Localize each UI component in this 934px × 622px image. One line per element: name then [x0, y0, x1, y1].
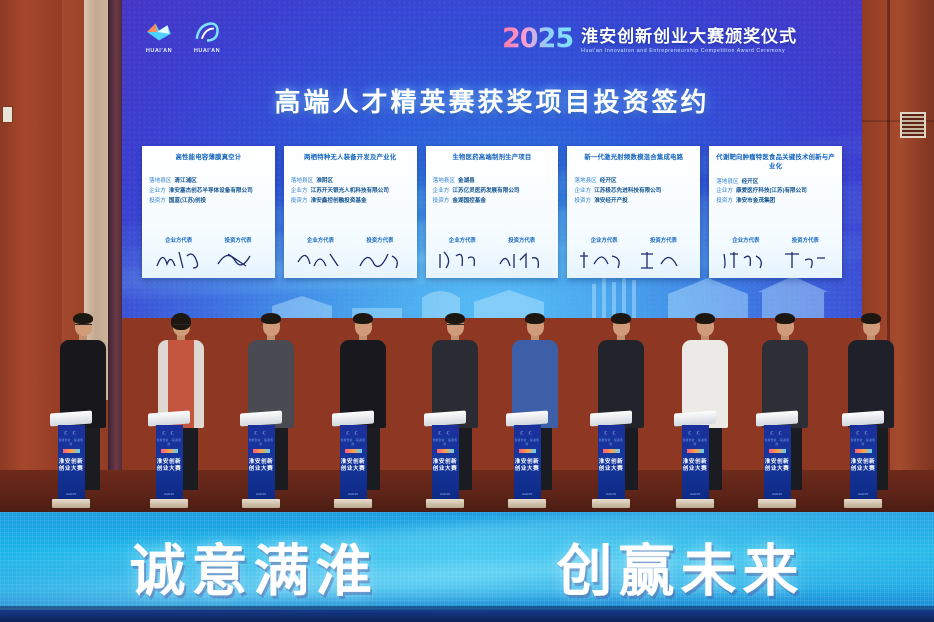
bird-logo-icon	[142, 18, 176, 46]
row-key: 投资方	[149, 197, 166, 205]
project-row-company: 企业方 江苏亿灵医药发展有限公司	[433, 187, 552, 195]
signature-label-company: 企业方代表	[307, 236, 334, 244]
podium-main-label: 淮安创新创业大赛	[248, 459, 275, 473]
podium-sub-label: 创新创业 · 投资签约	[764, 438, 791, 446]
podium-sub-label: 创新创业 · 投资签约	[598, 438, 625, 446]
event-year: 2025	[502, 25, 573, 52]
podium-base	[676, 499, 714, 508]
signature-label-investor: 投资方代表	[650, 236, 677, 244]
podium-foot-label: HUAI'AN	[432, 493, 459, 496]
hair	[353, 313, 373, 324]
row-value: 清江浦区	[174, 177, 196, 185]
row-key: 投资方	[291, 197, 308, 205]
main-title: 高端人才精英赛获奖项目投资签约	[122, 82, 862, 119]
podium-sub-label: 创新创业 · 投资签约	[156, 438, 183, 446]
row-key: 企业方	[574, 187, 591, 195]
hair	[861, 313, 881, 324]
glasses-icon	[75, 324, 92, 328]
signature-label-investor: 投资方代表	[508, 236, 535, 244]
podium-foot-label: HUAI'AN	[764, 493, 791, 496]
participant-head	[263, 316, 280, 336]
podium-main-label: 淮安创新创业大赛	[598, 459, 625, 473]
podium-foot-label: HUAI'AN	[248, 493, 275, 496]
glasses-icon	[173, 324, 190, 328]
script-logo-icon	[190, 18, 224, 46]
project-row-company: 企业方 淮安塞杰创芯半导体设备有限公司	[149, 187, 268, 195]
glasses-icon	[447, 324, 464, 328]
podium-base	[150, 499, 188, 508]
row-value: 金湖国控基金	[452, 197, 486, 205]
podium: 汇 汇 创新创业 · 投资签约 淮安创新创业大赛 HUAI'AN	[50, 412, 92, 508]
handwritten-signature	[637, 246, 689, 272]
row-value: 江苏开天银光人机科技有限公司	[311, 187, 389, 195]
podium-top-label: 汇 汇	[514, 430, 541, 435]
project-detail-rows: 落地县区 经开区 企业方 江苏极芯先进科技有限公司 投资方 淮安经开产投	[574, 177, 693, 207]
signature-labels: 企业方代表 投资方代表	[433, 236, 552, 244]
podium-sub-label: 创新创业 · 投资签约	[514, 438, 541, 446]
participant-head	[613, 316, 630, 336]
row-key: 企业方	[716, 187, 733, 195]
project-row-investor: 投资方 国蓝(江苏)创投	[149, 197, 268, 205]
row-value: 经开区	[742, 178, 759, 186]
podium-signage: 汇 汇 创新创业 · 投资签约 淮安创新创业大赛 HUAI'AN	[432, 425, 459, 499]
podium-base	[592, 499, 630, 508]
signature-area	[433, 244, 552, 274]
signature-labels: 企业方代表 投资方代表	[149, 236, 268, 244]
row-key: 投资方	[433, 197, 450, 205]
row-key: 落地县区	[433, 177, 455, 185]
podium-top-label: 汇 汇	[248, 430, 275, 435]
bottom-led-banner: 诚意满淮 创赢未来	[0, 512, 934, 622]
project-row-company: 企业方 康爱医疗科技(江苏)有限公司	[716, 187, 835, 195]
participant-head	[447, 316, 464, 336]
project-card-list: 高性能电容薄膜真空计 落地县区 清江浦区 企业方 淮安塞杰创芯半导体设备有限公司…	[142, 146, 842, 278]
participant-head	[863, 316, 880, 336]
air-vent-grille	[900, 112, 926, 138]
led-bottom-strip	[0, 610, 934, 622]
podium-color-chip	[345, 449, 362, 453]
signature-label-investor: 投资方代表	[792, 236, 819, 244]
huaian-script-logo: HUAI'AN	[190, 18, 224, 54]
podium-top-label: 汇 汇	[340, 430, 367, 435]
podium-signage: 汇 汇 创新创业 · 投资签约 淮安创新创业大赛 HUAI'AN	[58, 425, 85, 499]
row-value: 国蓝(江苏)创投	[169, 197, 206, 205]
row-value: 淮安市金茂集团	[736, 197, 775, 205]
row-key: 落地县区	[574, 177, 596, 185]
project-title: 生物医药高端制剂生产项目	[433, 153, 552, 171]
row-key: 落地县区	[716, 178, 738, 186]
handwritten-signature	[354, 246, 406, 272]
signature-label-company: 企业方代表	[165, 236, 192, 244]
podium: 汇 汇 创新创业 · 投资签约 淮安创新创业大赛 HUAI'AN	[590, 412, 632, 508]
podium-sub-label: 创新创业 · 投资签约	[432, 438, 459, 446]
project-title: 高性能电容薄膜真空计	[149, 153, 268, 171]
podium-signage: 汇 汇 创新创业 · 投资签约 淮安创新创业大赛 HUAI'AN	[248, 425, 275, 499]
project-row-investor: 投资方 淮安鑫控创融投资基金	[291, 197, 410, 205]
project-title: 代谢靶向肿瘤特医食品关键技术创新与产业化	[716, 153, 835, 172]
project-detail-rows: 落地县区 金湖县 企业方 江苏亿灵医药发展有限公司 投资方 金湖国控基金	[433, 177, 552, 207]
podium-main-label: 淮安创新创业大赛	[432, 459, 459, 473]
podium-sub-label: 创新创业 · 投资签约	[682, 438, 709, 446]
row-value: 江苏极芯先进科技有限公司	[594, 187, 661, 195]
signature-labels: 企业方代表 投资方代表	[291, 236, 410, 244]
row-key: 企业方	[433, 187, 450, 195]
podium-foot-label: HUAI'AN	[682, 493, 709, 496]
signature-label-investor: 投资方代表	[366, 236, 393, 244]
project-detail-rows: 落地县区 淮阴区 企业方 江苏开天银光人机科技有限公司 投资方 淮安鑫控创融投资…	[291, 177, 410, 207]
podium-color-chip	[437, 449, 454, 453]
podium-main-label: 淮安创新创业大赛	[58, 459, 85, 473]
project-row-region: 落地县区 经开区	[716, 178, 835, 186]
huaian-script-logo-caption: HUAI'AN	[194, 48, 220, 54]
podium: 汇 汇 创新创业 · 投资签约 淮安创新创业大赛 HUAI'AN	[756, 412, 798, 508]
signature-area	[291, 244, 410, 274]
project-row-company: 企业方 江苏开天银光人机科技有限公司	[291, 187, 410, 195]
podium-base	[758, 499, 796, 508]
podium-color-chip	[769, 449, 786, 453]
project-title: 新一代激光射频数模混合集成电路	[574, 153, 693, 171]
hair	[445, 313, 465, 324]
hair	[525, 313, 545, 324]
podium-top-label: 汇 汇	[156, 430, 183, 435]
podium-signage: 汇 汇 创新创业 · 投资签约 淮安创新创业大赛 HUAI'AN	[340, 425, 367, 499]
podium: 汇 汇 创新创业 · 投资签约 淮安创新创业大赛 HUAI'AN	[332, 412, 374, 508]
signature-labels: 企业方代表 投资方代表	[574, 236, 693, 244]
event-banner: 2025 淮安创新创业大赛颁奖仪式 Huai'an Innovation and…	[502, 22, 797, 54]
podium: 汇 汇 创新创业 · 投资签约 淮安创新创业大赛 HUAI'AN	[506, 412, 548, 508]
hair	[611, 313, 631, 324]
participants-row: 汇 汇 创新创业 · 投资签约 淮安创新创业大赛 HUAI'AN 汇 汇 创新创…	[0, 300, 934, 490]
podium-color-chip	[687, 449, 704, 453]
hair	[695, 313, 715, 324]
podium: 汇 汇 创新创业 · 投资签约 淮安创新创业大赛 HUAI'AN	[674, 412, 716, 508]
podium-main-label: 淮安创新创业大赛	[850, 459, 877, 473]
podium-foot-label: HUAI'AN	[514, 493, 541, 496]
signature-area	[574, 244, 693, 274]
podium-main-label: 淮安创新创业大赛	[764, 459, 791, 473]
row-key: 投资方	[574, 197, 591, 205]
handwritten-signature	[212, 246, 264, 272]
signature-label-company: 企业方代表	[732, 236, 759, 244]
project-title: 两栖特种无人装备开发及产业化	[291, 153, 410, 171]
podium-sub-label: 创新创业 · 投资签约	[850, 438, 877, 446]
row-key: 企业方	[149, 187, 166, 195]
podium-top-label: 汇 汇	[58, 430, 85, 435]
podium: 汇 汇 创新创业 · 投资签约 淮安创新创业大赛 HUAI'AN	[148, 412, 190, 508]
podium-color-chip	[161, 449, 178, 453]
podium-base	[52, 499, 90, 508]
podium-sub-label: 创新创业 · 投资签约	[248, 438, 275, 446]
signature-label-company: 企业方代表	[591, 236, 618, 244]
huaian-bird-logo-caption: HUAI'AN	[146, 48, 172, 54]
project-row-investor: 投资方 金湖国控基金	[433, 197, 552, 205]
podium-top-label: 汇 汇	[764, 430, 791, 435]
participant-head	[355, 316, 372, 336]
podium-signage: 汇 汇 创新创业 · 投资签约 淮安创新创业大赛 HUAI'AN	[156, 425, 183, 499]
project-row-region: 落地县区 经开区	[574, 177, 693, 185]
handwritten-signature	[720, 246, 772, 272]
row-value: 淮安塞杰创芯半导体设备有限公司	[169, 187, 253, 195]
project-card: 新一代激光射频数模混合集成电路 落地县区 经开区 企业方 江苏极芯先进科技有限公…	[567, 146, 700, 278]
handwritten-signature	[496, 246, 548, 272]
podium-signage: 汇 汇 创新创业 · 投资签约 淮安创新创业大赛 HUAI'AN	[850, 425, 877, 499]
podium-sub-label: 创新创业 · 投资签约	[58, 438, 85, 446]
event-title-en: Huai'an Innovation and Entrepreneurship …	[581, 48, 797, 54]
podium-color-chip	[63, 449, 80, 453]
row-key: 落地县区	[291, 177, 313, 185]
podium-top-label: 汇 汇	[850, 430, 877, 435]
podium-color-chip	[603, 449, 620, 453]
row-value: 淮安鑫控创融投资基金	[311, 197, 367, 205]
podium-main-label: 淮安创新创业大赛	[682, 459, 709, 473]
project-row-region: 落地县区 金湖县	[433, 177, 552, 185]
row-key: 落地县区	[149, 177, 171, 185]
row-key: 投资方	[716, 197, 733, 205]
podium: 汇 汇 创新创业 · 投资签约 淮安创新创业大赛 HUAI'AN	[240, 412, 282, 508]
project-card: 代谢靶向肿瘤特医食品关键技术创新与产业化 落地县区 经开区 企业方 康爱医疗科技…	[709, 146, 842, 278]
huaian-bird-logo: HUAI'AN	[142, 18, 176, 54]
row-value: 金湖县	[458, 177, 475, 185]
screen-logo-group: HUAI'AN HUAI'AN	[142, 18, 224, 54]
podium-signage: 汇 汇 创新创业 · 投资签约 淮安创新创业大赛 HUAI'AN	[764, 425, 791, 499]
participant-head	[75, 316, 92, 336]
podium-top-label: 汇 汇	[598, 430, 625, 435]
podium-top-label: 汇 汇	[682, 430, 709, 435]
podium: 汇 汇 创新创业 · 投资签约 淮安创新创业大赛 HUAI'AN	[424, 412, 466, 508]
podium: 汇 汇 创新创业 · 投资签约 淮安创新创业大赛 HUAI'AN	[842, 412, 884, 508]
podium-foot-label: HUAI'AN	[598, 493, 625, 496]
hair	[261, 313, 281, 324]
handwritten-signature	[779, 246, 831, 272]
participant-head	[173, 316, 190, 336]
signature-labels: 企业方代表 投资方代表	[716, 236, 835, 244]
row-key: 企业方	[291, 187, 308, 195]
project-detail-rows: 落地县区 经开区 企业方 康爱医疗科技(江苏)有限公司 投资方 淮安市金茂集团	[716, 178, 835, 208]
podium-foot-label: HUAI'AN	[850, 493, 877, 496]
project-row-investor: 投资方 淮安市金茂集团	[716, 197, 835, 205]
podium-main-label: 淮安创新创业大赛	[156, 459, 183, 473]
signature-label-investor: 投资方代表	[225, 236, 252, 244]
project-card: 生物医药高端制剂生产项目 落地县区 金湖县 企业方 江苏亿灵医药发展有限公司 投…	[426, 146, 559, 278]
project-row-investor: 投资方 淮安经开产投	[574, 197, 693, 205]
slogan-row: 诚意满淮 创赢未来	[0, 527, 934, 608]
podium-base	[508, 499, 546, 508]
podium-color-chip	[855, 449, 872, 453]
handwritten-signature	[436, 246, 488, 272]
slogan-right: 创赢未来	[557, 527, 805, 608]
row-value: 江苏亿灵医药发展有限公司	[452, 187, 519, 195]
podium-main-label: 淮安创新创业大赛	[514, 459, 541, 473]
exit-sign	[2, 106, 13, 123]
podium-foot-label: HUAI'AN	[340, 493, 367, 496]
slogan-left: 诚意满淮	[130, 527, 378, 608]
podium-main-label: 淮安创新创业大赛	[340, 459, 367, 473]
podium-sub-label: 创新创业 · 投资签约	[340, 438, 367, 446]
project-row-company: 企业方 江苏极芯先进科技有限公司	[574, 187, 693, 195]
participant-head	[697, 316, 714, 336]
hair	[73, 313, 93, 324]
led-backdrop-screen: HUAI'AN HUAI'AN 2025 淮安创新创业大赛颁奖仪式 Huai'a…	[122, 0, 862, 318]
project-row-region: 落地县区 淮阴区	[291, 177, 410, 185]
podium-top-label: 汇 汇	[432, 430, 459, 435]
signature-area	[149, 244, 268, 274]
row-value: 淮阴区	[316, 177, 333, 185]
podium-signage: 汇 汇 创新创业 · 投资签约 淮安创新创业大赛 HUAI'AN	[598, 425, 625, 499]
event-title-cn: 淮安创新创业大赛颁奖仪式	[581, 22, 797, 47]
participant-head	[777, 316, 794, 336]
signature-area	[716, 244, 835, 274]
podium-color-chip	[253, 449, 270, 453]
row-value: 经开区	[600, 177, 617, 185]
handwritten-signature	[294, 246, 346, 272]
project-card: 两栖特种无人装备开发及产业化 落地县区 淮阴区 企业方 江苏开天银光人机科技有限…	[284, 146, 417, 278]
podium-base	[426, 499, 464, 508]
project-card: 高性能电容薄膜真空计 落地县区 清江浦区 企业方 淮安塞杰创芯半导体设备有限公司…	[142, 146, 275, 278]
podium-foot-label: HUAI'AN	[156, 493, 183, 496]
project-row-region: 落地县区 清江浦区	[149, 177, 268, 185]
podium-base	[844, 499, 882, 508]
podium-signage: 汇 汇 创新创业 · 投资签约 淮安创新创业大赛 HUAI'AN	[682, 425, 709, 499]
podium-color-chip	[519, 449, 536, 453]
event-stage-photo: HUAI'AN HUAI'AN 2025 淮安创新创业大赛颁奖仪式 Huai'a…	[0, 0, 934, 622]
row-value: 淮安经开产投	[594, 197, 628, 205]
hair	[775, 313, 795, 324]
project-detail-rows: 落地县区 清江浦区 企业方 淮安塞杰创芯半导体设备有限公司 投资方 国蓝(江苏)…	[149, 177, 268, 207]
row-value: 康爱医疗科技(江苏)有限公司	[736, 187, 807, 195]
participant-head	[527, 316, 544, 336]
podium-signage: 汇 汇 创新创业 · 投资签约 淮安创新创业大赛 HUAI'AN	[514, 425, 541, 499]
podium-base	[334, 499, 372, 508]
podium-foot-label: HUAI'AN	[58, 493, 85, 496]
signature-label-company: 企业方代表	[449, 236, 476, 244]
podium-base	[242, 499, 280, 508]
handwritten-signature	[578, 246, 630, 272]
handwritten-signature	[153, 246, 205, 272]
